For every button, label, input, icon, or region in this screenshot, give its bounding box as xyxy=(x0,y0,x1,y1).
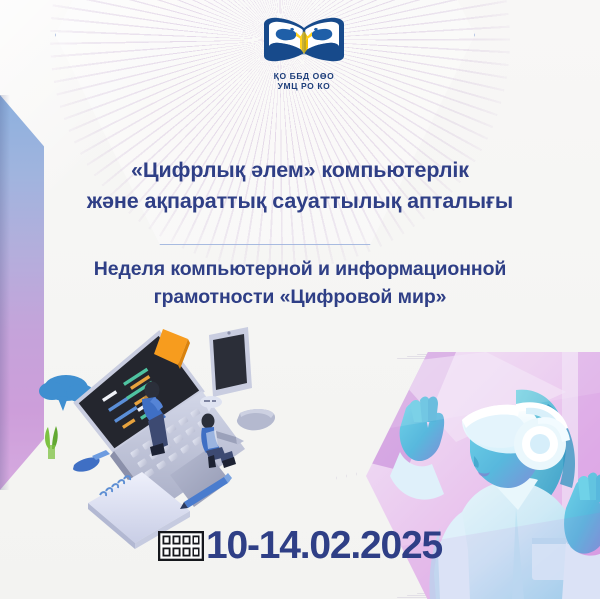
poster-canvas: ҚО ББД ОӨО УМЦ РО КО «Цифрлық әлем» комп… xyxy=(0,0,600,599)
title-russian-line-2: грамотности «Цифровой мир» xyxy=(32,284,568,312)
title-kazakh-line-1: «Цифрлық әлем» компьютерлік xyxy=(42,155,558,186)
poster-titles: «Цифрлық әлем» компьютерлік және ақпарат… xyxy=(0,155,600,311)
mouse-icon xyxy=(237,409,275,430)
organization-logo: ҚО ББД ОӨО УМЦ РО КО xyxy=(248,10,360,91)
logo-text-line-2: УМЦ РО КО xyxy=(248,82,360,92)
event-date-row: 10-14.02.2025 xyxy=(0,526,600,565)
title-kazakh: «Цифрлық әлем» компьютерлік және ақпарат… xyxy=(0,155,600,216)
title-russian: Неделя компьютерной и информационной гра… xyxy=(0,256,600,311)
usb-stick xyxy=(73,450,110,472)
plant-icon xyxy=(45,426,58,459)
title-kazakh-line-2: және ақпараттық сауаттылық апталығы xyxy=(42,186,558,217)
title-russian-line-1: Неделя компьютерной и информационной xyxy=(32,256,568,284)
open-book-with-kazakhstan-map-and-tulip-icon xyxy=(256,10,352,72)
calendar-grid-icon xyxy=(158,531,204,561)
event-date-text: 10-14.02.2025 xyxy=(206,526,442,565)
smartphone xyxy=(209,327,252,397)
